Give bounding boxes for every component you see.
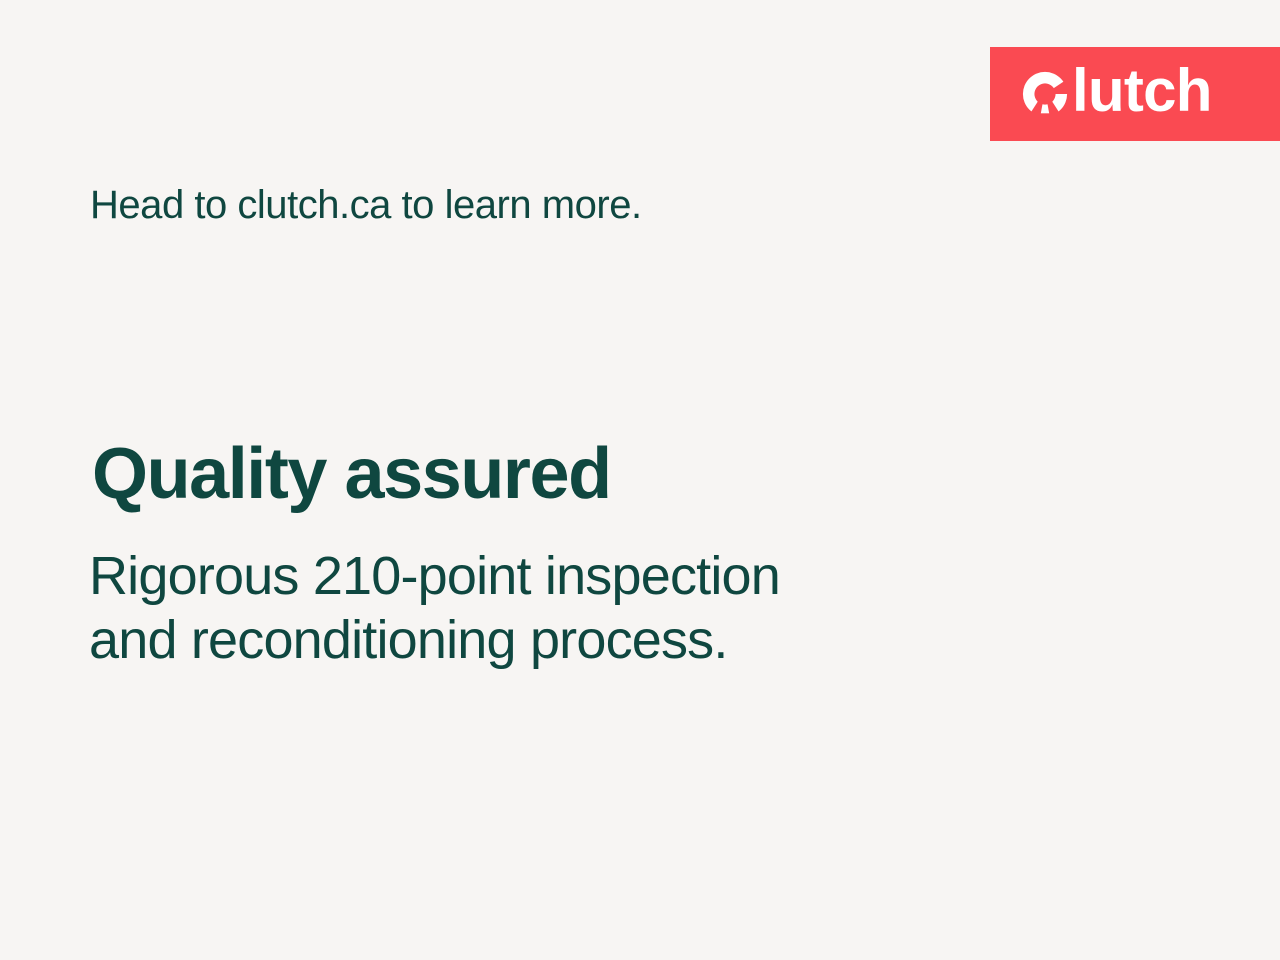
slide-canvas: lutch Head to clutch.ca to learn more. Q… — [0, 0, 1280, 960]
page-title: Quality assured — [92, 437, 611, 513]
clutch-logo-badge[interactable]: lutch — [990, 47, 1280, 141]
subcopy-line-2: and reconditioning process. — [89, 609, 780, 673]
subcopy-line-1: Rigorous 210-point inspection — [89, 545, 780, 609]
subcopy-block: Rigorous 210-point inspection and recond… — [89, 545, 780, 672]
clutch-c-icon — [1022, 71, 1068, 117]
eyebrow-text: Head to clutch.ca to learn more. — [90, 182, 642, 228]
clutch-wordmark: lutch — [1072, 61, 1212, 121]
